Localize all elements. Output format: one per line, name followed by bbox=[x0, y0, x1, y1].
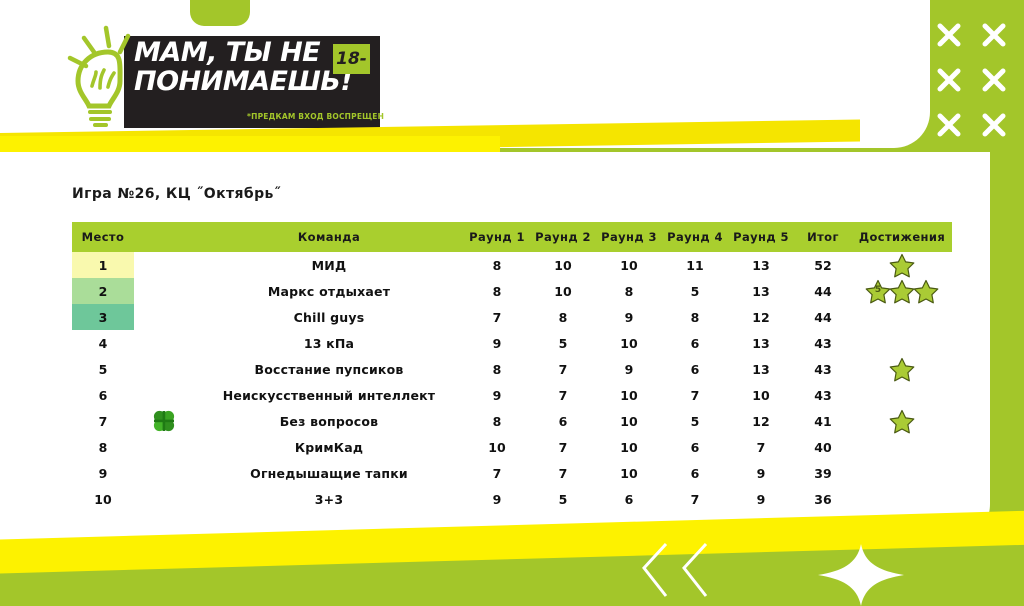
cell-round-1: 9 bbox=[464, 330, 530, 356]
cell-team[interactable]: Неискусственный интеллект bbox=[194, 382, 464, 408]
cell-total: 44 bbox=[794, 304, 852, 330]
cell-achievements bbox=[852, 330, 952, 356]
cell-round-3: 10 bbox=[596, 252, 662, 278]
cell-round-5: 9 bbox=[728, 486, 794, 512]
cell-round-1: 7 bbox=[464, 460, 530, 486]
table-row: 1МИД81010111352 bbox=[72, 252, 952, 278]
cell-luck bbox=[134, 304, 194, 330]
cell-team[interactable]: Маркс отдыхает bbox=[194, 278, 464, 304]
cell-round-1: 7 bbox=[464, 304, 530, 330]
cell-total: 36 bbox=[794, 486, 852, 512]
cell-round-2: 5 bbox=[530, 330, 596, 356]
cell-luck bbox=[134, 382, 194, 408]
cell-round-2: 5 bbox=[530, 486, 596, 512]
cell-round-4: 7 bbox=[662, 382, 728, 408]
cell-team[interactable]: Без вопросов bbox=[194, 408, 464, 434]
cell-round-5: 9 bbox=[728, 460, 794, 486]
achievement-star-label: 5 bbox=[865, 285, 891, 295]
column-header-place[interactable]: Место bbox=[72, 222, 134, 252]
cell-round-5: 13 bbox=[728, 252, 794, 278]
cell-total: 43 bbox=[794, 356, 852, 382]
table-row: 8КримКад107106740 bbox=[72, 434, 952, 460]
cell-round-5: 10 bbox=[728, 382, 794, 408]
cell-round-2: 7 bbox=[530, 434, 596, 460]
table-row: 103+39567936 bbox=[72, 486, 952, 512]
achievement-star-icon bbox=[889, 357, 915, 382]
cell-round-5: 7 bbox=[728, 434, 794, 460]
age-badge: 18- bbox=[333, 44, 370, 74]
logo: МАМ, ТЫ НЕ ПОНИМАЕШЬ! 18- *ПРЕДКАМ ВХОД … bbox=[62, 22, 380, 128]
page-background: МАМ, ТЫ НЕ ПОНИМАЕШЬ! 18- *ПРЕДКАМ ВХОД … bbox=[0, 0, 1024, 606]
table-row: 7Без вопросов861051241 bbox=[72, 408, 952, 434]
column-header-round-3[interactable]: Раунд 3 bbox=[596, 222, 662, 252]
column-header-luck bbox=[134, 222, 194, 252]
results-table: Место Команда Раунд 1 Раунд 2 Раунд 3 Ра… bbox=[72, 222, 952, 512]
table-row: 5Восстание пупсиков87961343 bbox=[72, 356, 952, 382]
cell-round-5: 13 bbox=[728, 278, 794, 304]
cell-round-4: 6 bbox=[662, 330, 728, 356]
table-body: 1МИД810101113522Маркс отдыхает8108513445… bbox=[72, 252, 952, 512]
achievement-star-icon bbox=[889, 409, 915, 434]
cell-place: 5 bbox=[72, 356, 134, 382]
cell-round-1: 8 bbox=[464, 252, 530, 278]
cell-total: 40 bbox=[794, 434, 852, 460]
cell-round-3: 6 bbox=[596, 486, 662, 512]
cell-achievements bbox=[852, 304, 952, 330]
cell-round-5: 12 bbox=[728, 304, 794, 330]
cell-place: 10 bbox=[72, 486, 134, 512]
cell-team[interactable]: 3+3 bbox=[194, 486, 464, 512]
table-row: 2Маркс отдыхает8108513445 bbox=[72, 278, 952, 304]
cell-luck bbox=[134, 330, 194, 356]
cell-round-3: 8 bbox=[596, 278, 662, 304]
table-header: Место Команда Раунд 1 Раунд 2 Раунд 3 Ра… bbox=[72, 222, 952, 252]
cell-round-4: 8 bbox=[662, 304, 728, 330]
cell-round-2: 7 bbox=[530, 382, 596, 408]
cell-round-1: 9 bbox=[464, 486, 530, 512]
cell-round-3: 9 bbox=[596, 356, 662, 382]
cell-round-1: 8 bbox=[464, 356, 530, 382]
cell-place: 7 bbox=[72, 408, 134, 434]
cell-achievements bbox=[852, 434, 952, 460]
cell-round-5: 13 bbox=[728, 356, 794, 382]
cell-team[interactable]: МИД bbox=[194, 252, 464, 278]
cell-round-2: 7 bbox=[530, 460, 596, 486]
cell-luck bbox=[134, 278, 194, 304]
cell-round-4: 6 bbox=[662, 356, 728, 382]
cell-round-5: 12 bbox=[728, 408, 794, 434]
cell-round-4: 11 bbox=[662, 252, 728, 278]
column-header-round-1[interactable]: Раунд 1 bbox=[464, 222, 530, 252]
cell-round-3: 10 bbox=[596, 434, 662, 460]
cell-round-4: 5 bbox=[662, 278, 728, 304]
cell-total: 41 bbox=[794, 408, 852, 434]
cell-round-3: 10 bbox=[596, 382, 662, 408]
table-row: 9Огнедышащие тапки77106939 bbox=[72, 460, 952, 486]
achievement-star-icon bbox=[913, 279, 939, 304]
cell-round-1: 8 bbox=[464, 408, 530, 434]
cell-team[interactable]: Огнедышащие тапки bbox=[194, 460, 464, 486]
cell-round-5: 13 bbox=[728, 330, 794, 356]
cell-round-1: 10 bbox=[464, 434, 530, 460]
cell-round-4: 7 bbox=[662, 486, 728, 512]
page-title: Игра №26, КЦ ˝Октябрь˝ bbox=[72, 186, 281, 202]
cell-luck bbox=[134, 408, 194, 434]
cell-place: 1 bbox=[72, 252, 134, 278]
cell-round-1: 9 bbox=[464, 382, 530, 408]
cell-luck bbox=[134, 460, 194, 486]
table-row: 413 кПа951061343 bbox=[72, 330, 952, 356]
cell-achievements bbox=[852, 460, 952, 486]
chevron-left-icon bbox=[620, 538, 770, 602]
cell-round-4: 5 bbox=[662, 408, 728, 434]
cell-round-4: 6 bbox=[662, 460, 728, 486]
cell-place: 6 bbox=[72, 382, 134, 408]
cell-place: 8 bbox=[72, 434, 134, 460]
column-header-round-5[interactable]: Раунд 5 bbox=[728, 222, 794, 252]
cell-achievements bbox=[852, 382, 952, 408]
column-header-total[interactable]: Итог bbox=[794, 222, 852, 252]
sparkle-icon bbox=[818, 544, 904, 606]
cell-luck bbox=[134, 252, 194, 278]
cell-total: 43 bbox=[794, 382, 852, 408]
table-row: 6Неискусственный интеллект971071043 bbox=[72, 382, 952, 408]
achievement-star-icon bbox=[889, 253, 915, 278]
column-header-round-4[interactable]: Раунд 4 bbox=[662, 222, 728, 252]
cell-round-2: 10 bbox=[530, 278, 596, 304]
column-header-achievements[interactable]: Достижения bbox=[852, 222, 952, 252]
cell-place: 2 bbox=[72, 278, 134, 304]
cell-achievements bbox=[852, 356, 952, 382]
cell-round-2: 6 bbox=[530, 408, 596, 434]
cell-round-2: 10 bbox=[530, 252, 596, 278]
cell-total: 43 bbox=[794, 330, 852, 356]
cell-place: 3 bbox=[72, 304, 134, 330]
cell-total: 39 bbox=[794, 460, 852, 486]
cell-round-3: 10 bbox=[596, 460, 662, 486]
cell-total: 44 bbox=[794, 278, 852, 304]
cell-round-2: 8 bbox=[530, 304, 596, 330]
cell-place: 9 bbox=[72, 460, 134, 486]
cell-round-3: 10 bbox=[596, 408, 662, 434]
cell-team[interactable]: 13 кПа bbox=[194, 330, 464, 356]
cell-total: 52 bbox=[794, 252, 852, 278]
cell-achievements bbox=[852, 486, 952, 512]
column-header-team[interactable]: Команда bbox=[194, 222, 464, 252]
cell-luck bbox=[134, 434, 194, 460]
achievement-star-icon bbox=[889, 279, 915, 304]
cell-team[interactable]: Chill guys bbox=[194, 304, 464, 330]
cell-achievements bbox=[852, 252, 952, 278]
cell-luck bbox=[134, 486, 194, 512]
achievement-star-icon: 5 bbox=[865, 279, 891, 304]
cell-team[interactable]: Восстание пупсиков bbox=[194, 356, 464, 382]
logo-tagline: *ПРЕДКАМ ВХОД ВОСПРЕЩЕН bbox=[247, 112, 382, 121]
cell-achievements bbox=[852, 408, 952, 434]
cell-team[interactable]: КримКад bbox=[194, 434, 464, 460]
table-header-row: Место Команда Раунд 1 Раунд 2 Раунд 3 Ра… bbox=[72, 222, 952, 252]
column-header-round-2[interactable]: Раунд 2 bbox=[530, 222, 596, 252]
cell-round-2: 7 bbox=[530, 356, 596, 382]
cell-round-3: 9 bbox=[596, 304, 662, 330]
cell-round-4: 6 bbox=[662, 434, 728, 460]
cell-luck bbox=[134, 356, 194, 382]
four-leaf-clover-icon bbox=[151, 408, 177, 434]
cell-achievements: 5 bbox=[852, 278, 952, 304]
table-row: 3Chill guys78981244 bbox=[72, 304, 952, 330]
cell-round-1: 8 bbox=[464, 278, 530, 304]
cell-round-3: 10 bbox=[596, 330, 662, 356]
cell-place: 4 bbox=[72, 330, 134, 356]
